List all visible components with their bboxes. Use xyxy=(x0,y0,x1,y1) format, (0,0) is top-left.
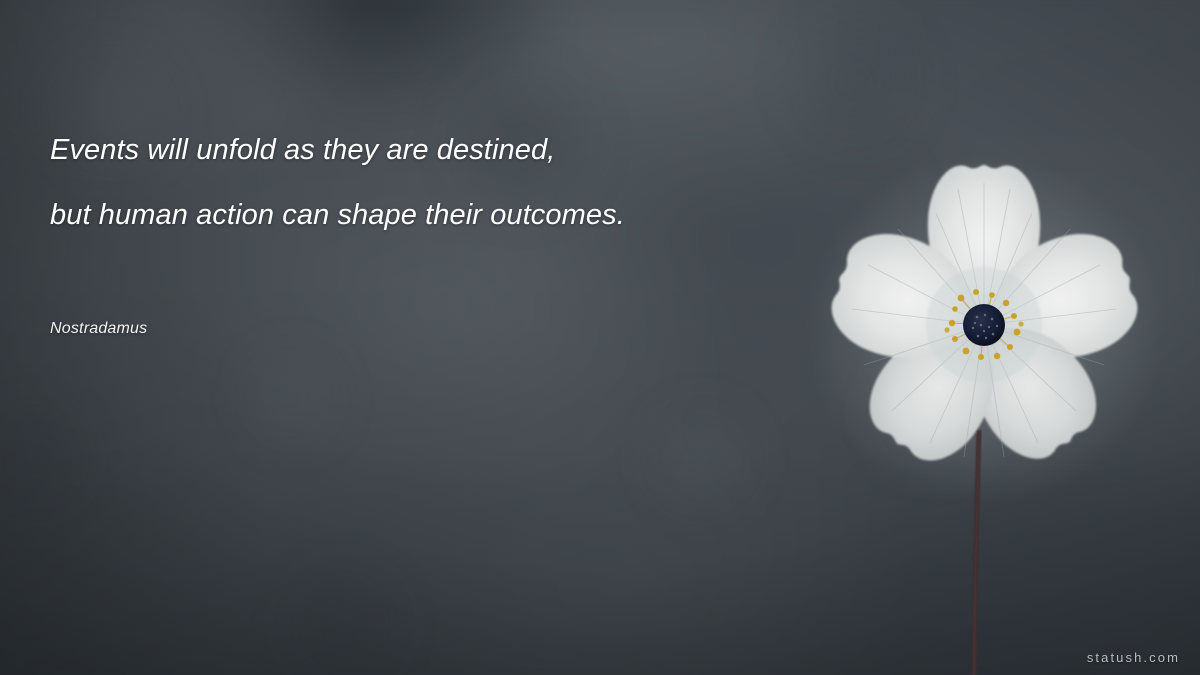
quote-line-1: Events will unfold as they are destined, xyxy=(50,118,870,183)
background-vignette xyxy=(0,0,1200,675)
quote-card: Events will unfold as they are destined,… xyxy=(0,0,1200,675)
quote-text-block: Events will unfold as they are destined,… xyxy=(50,118,870,248)
quote-author: Nostradamus xyxy=(50,320,147,338)
site-watermark: statush.com xyxy=(1087,650,1180,665)
quote-line-2: but human action can shape their outcome… xyxy=(50,183,870,248)
